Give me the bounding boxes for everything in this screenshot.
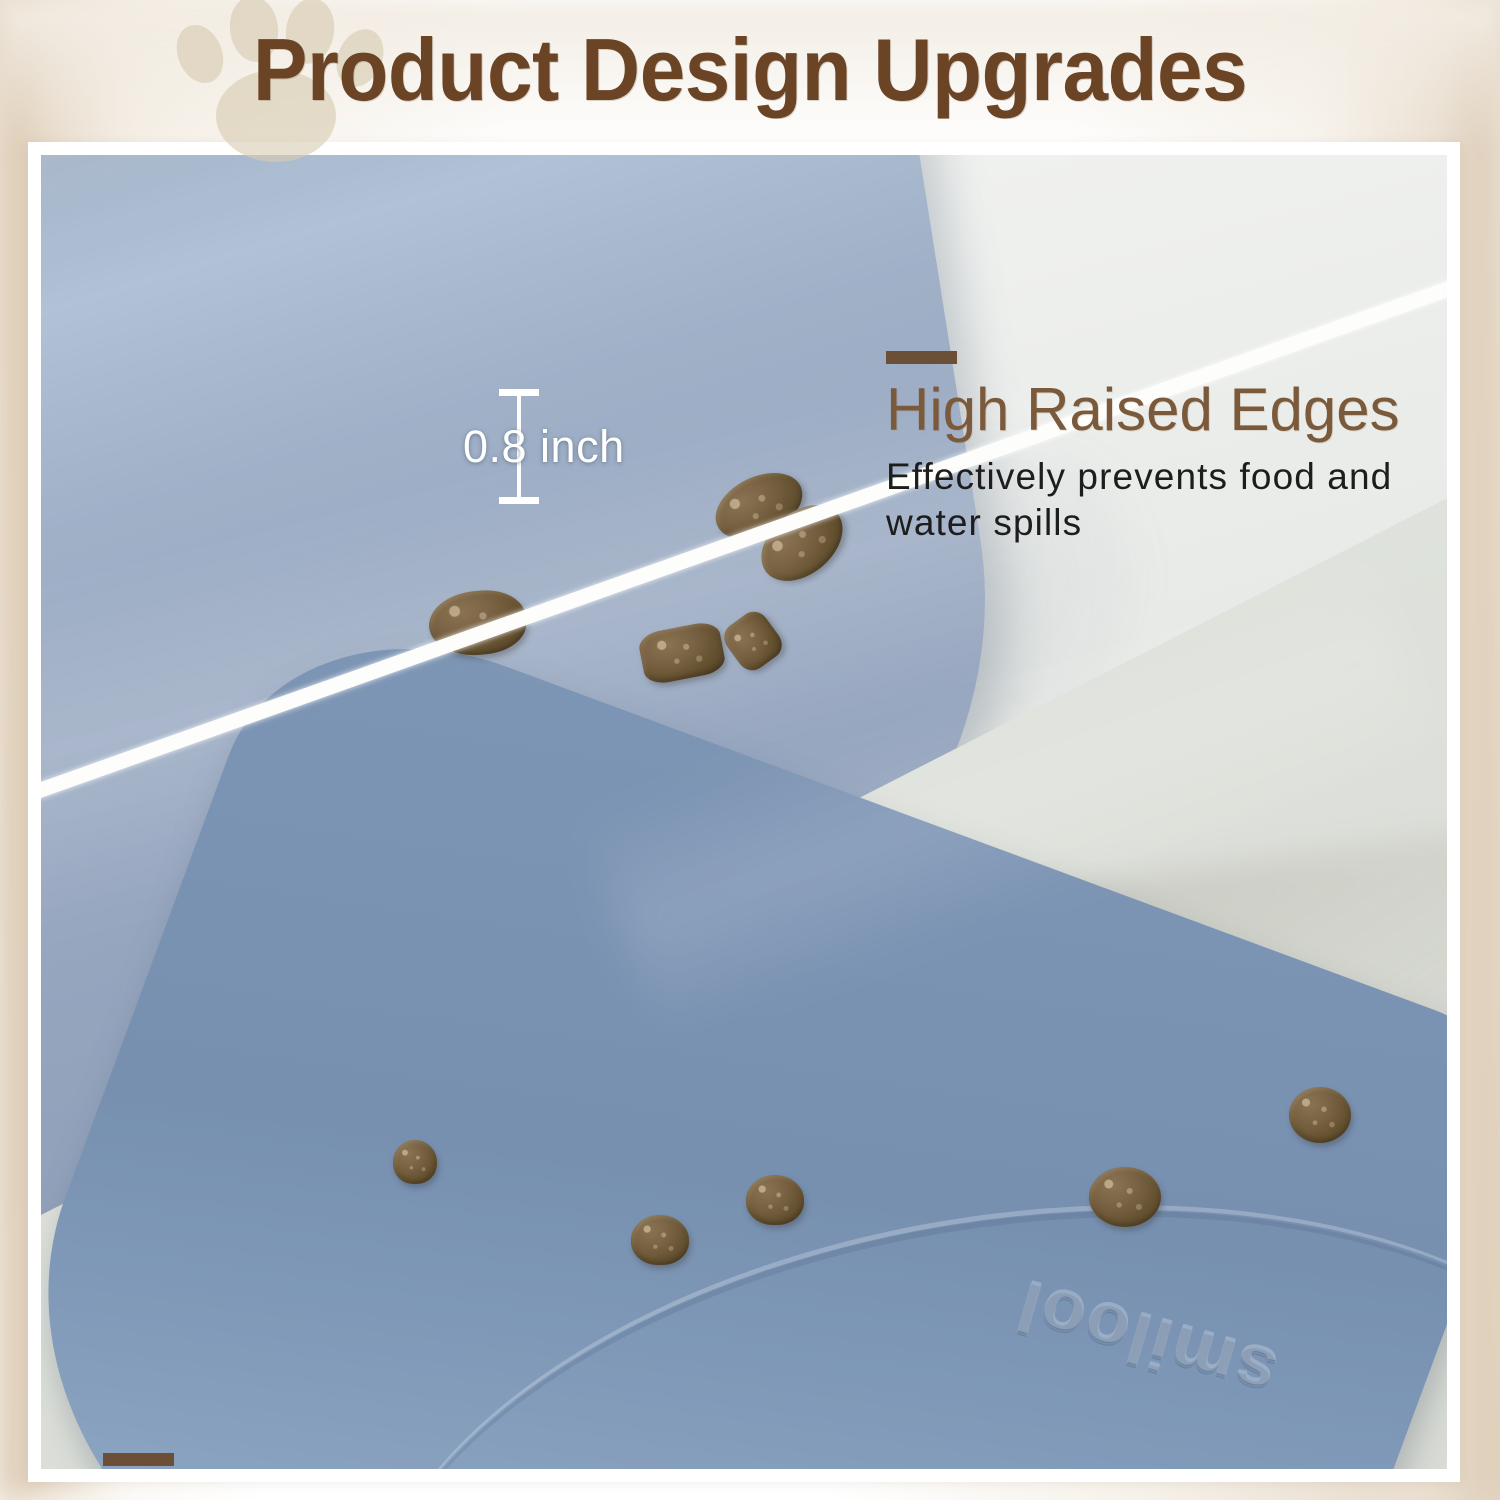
- callout-subtitle: Effectively prevents food and water spil…: [886, 454, 1447, 546]
- kibble-piece: [631, 1215, 689, 1265]
- product-photo: 0.8 inch smilool High R: [41, 155, 1447, 1469]
- dimension-label: 0.8 inch: [463, 421, 683, 473]
- product-photo-frame: 0.8 inch smilool High R: [28, 142, 1460, 1482]
- accent-bar-icon: [103, 1453, 174, 1466]
- kibble-piece: [1289, 1087, 1351, 1143]
- header: Product Design Upgrades: [0, 0, 1500, 140]
- kibble-piece: [746, 1175, 804, 1225]
- accent-bar-icon: [886, 351, 957, 364]
- dimension-cap-bottom: [499, 497, 539, 504]
- callout-keeping-floor-clean: Keeping the floor clean Minimizes time s…: [103, 1453, 911, 1469]
- kibble-piece: [393, 1140, 437, 1184]
- kibble-piece: [1089, 1167, 1161, 1227]
- infographic-root: Product Design Upgrades 0.8 inch: [0, 0, 1500, 1500]
- dimension-callout: 0.8 inch: [471, 377, 701, 517]
- callout-title: High Raised Edges: [886, 374, 1447, 446]
- callout-high-raised-edges: High Raised Edges Effectively prevents f…: [886, 351, 1447, 546]
- page-title: Product Design Upgrades: [53, 14, 1448, 126]
